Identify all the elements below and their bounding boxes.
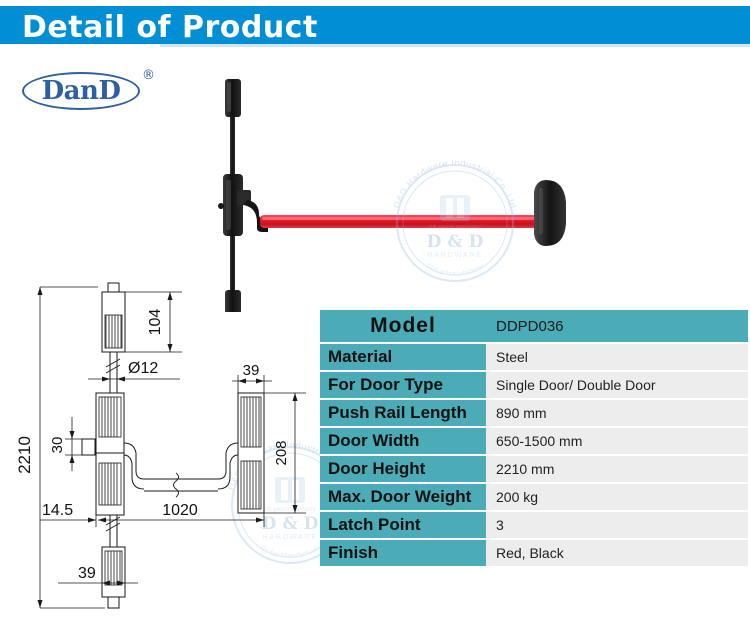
spec-value-latch-point: 3 [486, 511, 748, 539]
brand-logo: DanD ® [22, 68, 162, 114]
spec-key-finish: Finish [320, 539, 486, 567]
spec-value-door-height: 2210 mm [486, 455, 748, 483]
drawing-top-latch [102, 283, 125, 352]
spec-key-push-rail-length: Push Rail Length [320, 399, 486, 427]
spec-key-door-height: Door Height [320, 455, 486, 483]
dim-label-208: 208 [273, 440, 290, 465]
rail-end-cap [534, 180, 566, 246]
spec-value-model: DDPD036 [486, 310, 748, 343]
drawing-push-rail [124, 443, 238, 497]
table-row-door-width: Door Width 650-1500 mm [320, 427, 748, 455]
drawing-latch-bolt [82, 439, 95, 455]
dimension-lines [38, 287, 307, 608]
table-row-for-door-type: For Door Type Single Door/ Double Door [320, 371, 748, 399]
spec-value-max-door-weight: 200 kg [486, 483, 748, 511]
table-row-material: Material Steel [320, 343, 748, 371]
logo-text: DanD [22, 72, 140, 110]
dim-label-30: 30 [49, 437, 66, 454]
spec-value-for-door-type: Single Door/ Double Door [486, 371, 748, 399]
table-row-max-door-weight: Max. Door Weight 200 kg [320, 483, 748, 511]
specification-table: Model DDPD036 Material Steel For Door Ty… [320, 310, 748, 568]
banner-shadow [160, 44, 750, 47]
housing-screw [218, 203, 224, 209]
spec-table-body: Model DDPD036 Material Steel For Door Ty… [320, 310, 748, 567]
spec-value-finish: Red, Black [486, 539, 748, 567]
spec-value-push-rail-length: 890 mm [486, 399, 748, 427]
dim-label-1020: 1020 [162, 502, 198, 519]
dim-label-2210: 2210 [15, 436, 34, 474]
table-row-latch-point: Latch Point 3 [320, 511, 748, 539]
spec-key-for-door-type: For Door Type [320, 371, 486, 399]
drawing-right-housing [238, 393, 264, 513]
dim-label-14-5: 14.5 [42, 502, 73, 519]
spec-key-model: Model [320, 310, 486, 343]
spec-key-latch-point: Latch Point [320, 511, 486, 539]
dim-label-diameter-12: Ø12 [128, 360, 158, 377]
product-detail-page: Detail of Product DanD ® [0, 0, 750, 620]
dim-label-104: 104 [147, 309, 164, 336]
dim-label-39-top: 39 [243, 362, 260, 379]
spec-key-door-width: Door Width [320, 427, 486, 455]
page-title: Detail of Product [22, 13, 318, 43]
spec-key-material: Material [320, 343, 486, 371]
spec-key-max-door-weight: Max. Door Weight [320, 483, 486, 511]
table-row-door-height: Door Height 2210 mm [320, 455, 748, 483]
header-banner: Detail of Product [0, 6, 750, 44]
table-row-model: Model DDPD036 [320, 310, 748, 343]
drawing-bottom-latch [102, 547, 125, 608]
dim-label-39-bottom: 39 [78, 565, 96, 582]
technical-drawing: 2210 104 Ø12 30 39 208 14.5 1020 39 [10, 275, 330, 620]
spec-value-material: Steel [486, 343, 748, 371]
table-row-push-rail-length: Push Rail Length 890 mm [320, 399, 748, 427]
spec-value-door-width: 650-1500 mm [486, 427, 748, 455]
push-rail [260, 215, 550, 228]
drawing-center-housing-upper [96, 393, 124, 453]
registered-trademark-icon: ® [142, 68, 155, 83]
table-row-finish: Finish Red, Black [320, 539, 748, 567]
drawing-center-housing-lower [96, 453, 124, 515]
